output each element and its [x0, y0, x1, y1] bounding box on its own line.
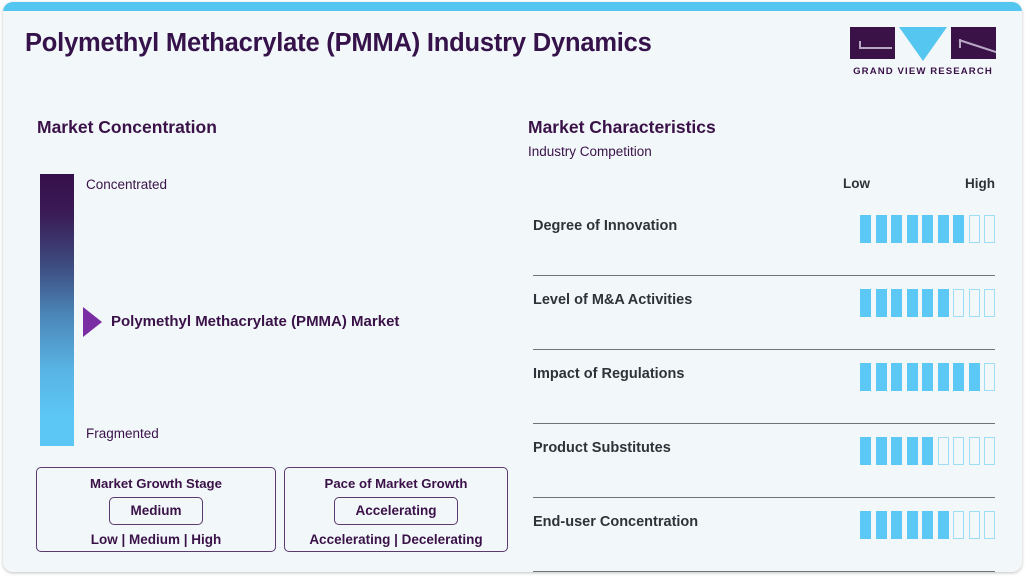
rating-segment-filled — [876, 363, 887, 391]
market-characteristics-subtitle: Industry Competition — [528, 144, 652, 159]
rating-segment-filled — [969, 363, 980, 391]
rating-segment-filled — [907, 511, 918, 539]
characteristics-rows: Degree of InnovationLevel of M&A Activit… — [533, 202, 995, 572]
rating-segment-filled — [891, 215, 902, 243]
market-characteristics-title: Market Characteristics — [528, 117, 716, 138]
rating-segment-empty — [969, 437, 980, 465]
characteristic-row: Degree of Innovation — [533, 202, 995, 276]
rating-segment-filled — [876, 215, 887, 243]
rating-segment-filled — [891, 363, 902, 391]
rating-segment-filled — [922, 289, 933, 317]
characteristic-row-label: Product Substitutes — [533, 440, 671, 456]
market-position-label: Polymethyl Methacrylate (PMMA) Market — [111, 313, 399, 330]
market-position-arrow-icon — [83, 307, 102, 337]
scale-label-concentrated: Concentrated — [86, 177, 167, 192]
rating-segment-filled — [953, 363, 964, 391]
rating-segment-filled — [860, 511, 871, 539]
rating-segment-empty — [969, 511, 980, 539]
rating-segment-filled — [891, 437, 902, 465]
pace-of-market-growth-box: Pace of Market Growth Accelerating Accel… — [284, 467, 508, 552]
rating-segment-filled — [938, 363, 949, 391]
pace-of-market-growth-value: Accelerating — [334, 497, 457, 525]
characteristic-row-label: End-user Concentration — [533, 514, 698, 530]
page-title: Polymethyl Methacrylate (PMMA) Industry … — [25, 29, 652, 58]
logo-triangle-down-icon — [899, 27, 947, 61]
characteristic-rating-bars — [860, 289, 995, 317]
market-growth-stage-value: Medium — [109, 497, 202, 525]
brand-logo: GRAND VIEW RESEARCH — [850, 27, 996, 77]
axis-label-high: High — [965, 176, 995, 191]
logo-wordmark: GRAND VIEW RESEARCH — [850, 66, 996, 77]
characteristic-rating-bars — [860, 215, 995, 243]
pace-of-market-growth-title: Pace of Market Growth — [285, 476, 507, 491]
infographic-canvas: Polymethyl Methacrylate (PMMA) Industry … — [0, 0, 1025, 576]
characteristic-rating-bars — [860, 363, 995, 391]
logo-marks — [850, 27, 996, 61]
characteristic-row: End-user Concentration — [533, 498, 995, 572]
rating-segment-filled — [860, 215, 871, 243]
scale-label-fragmented: Fragmented — [86, 426, 159, 441]
rating-segment-filled — [891, 511, 902, 539]
market-growth-stage-scale: Low | Medium | High — [37, 532, 275, 547]
rating-segment-empty — [984, 363, 995, 391]
rating-segment-filled — [907, 363, 918, 391]
rating-segment-empty — [984, 511, 995, 539]
rating-segment-filled — [876, 511, 887, 539]
rating-segment-filled — [922, 363, 933, 391]
rating-segment-filled — [907, 289, 918, 317]
top-accent-bar — [3, 2, 1022, 11]
characteristic-row: Impact of Regulations — [533, 350, 995, 424]
rating-segment-filled — [860, 289, 871, 317]
rating-segment-filled — [891, 289, 902, 317]
market-growth-stage-title: Market Growth Stage — [37, 476, 275, 491]
rating-segment-filled — [938, 289, 949, 317]
rating-segment-empty — [938, 437, 949, 465]
market-growth-stage-box: Market Growth Stage Medium Low | Medium … — [36, 467, 276, 552]
characteristic-row-label: Degree of Innovation — [533, 218, 677, 234]
rating-segment-filled — [922, 215, 933, 243]
pace-of-market-growth-scale: Accelerating | Decelerating — [285, 532, 507, 547]
rating-segment-filled — [907, 437, 918, 465]
characteristic-row: Product Substitutes — [533, 424, 995, 498]
rating-segment-empty — [984, 437, 995, 465]
rating-segment-filled — [876, 437, 887, 465]
rating-segment-filled — [876, 289, 887, 317]
rating-segment-empty — [953, 511, 964, 539]
rating-segment-empty — [953, 437, 964, 465]
card-frame: Polymethyl Methacrylate (PMMA) Industry … — [3, 2, 1022, 572]
rating-segment-filled — [860, 437, 871, 465]
rating-segment-empty — [984, 289, 995, 317]
rating-segment-empty — [953, 289, 964, 317]
rating-segment-filled — [938, 215, 949, 243]
characteristic-row-label: Level of M&A Activities — [533, 292, 692, 308]
characteristic-row-label: Impact of Regulations — [533, 366, 684, 382]
characteristic-rating-bars — [860, 437, 995, 465]
rating-segment-empty — [969, 215, 980, 243]
rating-segment-filled — [938, 511, 949, 539]
logo-block-right-icon — [951, 27, 996, 59]
rating-segment-filled — [860, 363, 871, 391]
rating-segment-filled — [907, 215, 918, 243]
characteristic-rating-bars — [860, 511, 995, 539]
rating-segment-filled — [922, 437, 933, 465]
rating-segment-empty — [969, 289, 980, 317]
characteristic-row: Level of M&A Activities — [533, 276, 995, 350]
logo-block-left-icon — [850, 27, 895, 59]
axis-label-low: Low — [843, 176, 870, 191]
market-concentration-title: Market Concentration — [37, 117, 217, 138]
rating-segment-filled — [953, 215, 964, 243]
concentration-gradient-scale — [40, 174, 74, 446]
characteristics-axis-labels: Low High — [843, 176, 995, 191]
rating-segment-filled — [922, 511, 933, 539]
rating-segment-empty — [984, 215, 995, 243]
